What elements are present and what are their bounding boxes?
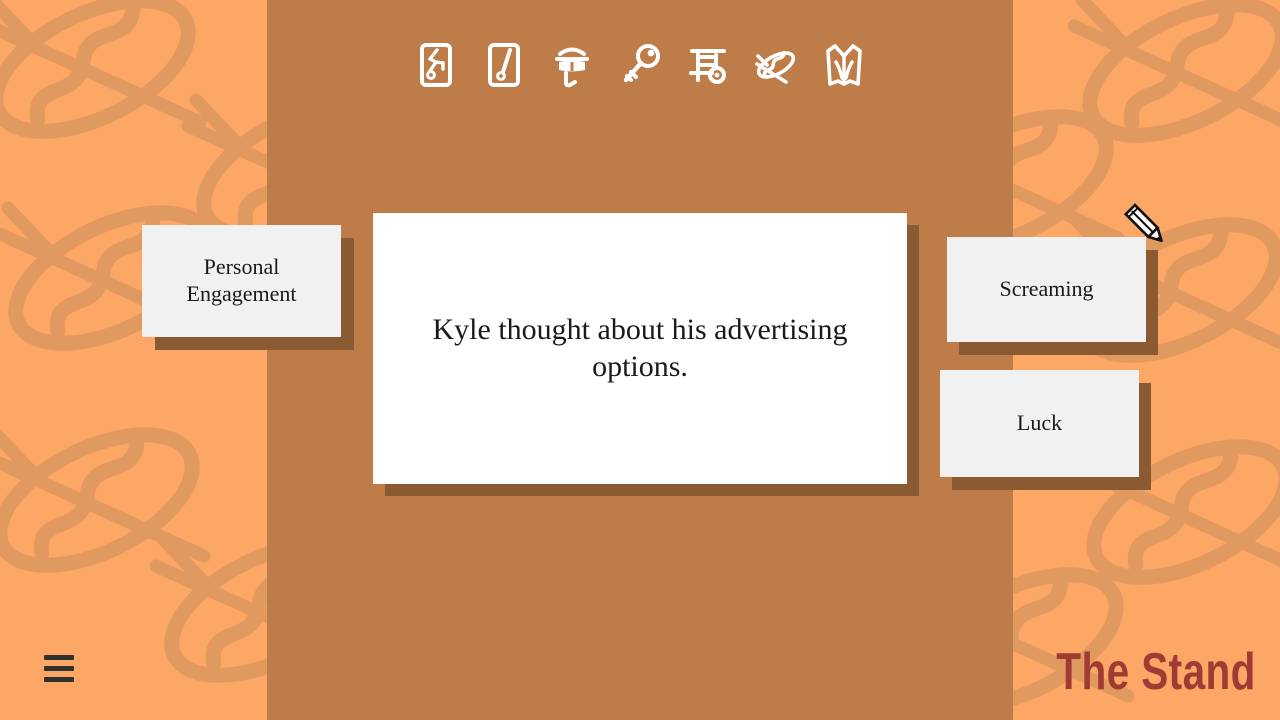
phone-icon[interactable] xyxy=(481,38,527,92)
menu-bar-2 xyxy=(44,666,74,671)
game-title-logo: The Stand xyxy=(1056,646,1256,698)
hamburger-menu-icon[interactable] xyxy=(44,652,76,684)
choice-card-luck[interactable]: Luck xyxy=(940,370,1139,477)
menu-bar-1 xyxy=(44,655,74,660)
vest-icon[interactable] xyxy=(821,38,867,92)
key-icon[interactable] xyxy=(617,38,663,92)
menu-bar-3 xyxy=(44,677,74,682)
inventory-icon-bar xyxy=(267,34,1013,96)
choice-card-personal-engagement[interactable]: Personal Engagement xyxy=(142,225,341,337)
helmet-icon[interactable] xyxy=(549,38,595,92)
passage-card: Kyle thought about his advertising optio… xyxy=(373,213,907,484)
hotdog-icon[interactable] xyxy=(753,38,799,92)
cracked-phone-icon[interactable] xyxy=(413,38,459,92)
hotdog-cart-icon[interactable] xyxy=(685,38,731,92)
choice-card-screaming[interactable]: Screaming xyxy=(947,237,1146,342)
